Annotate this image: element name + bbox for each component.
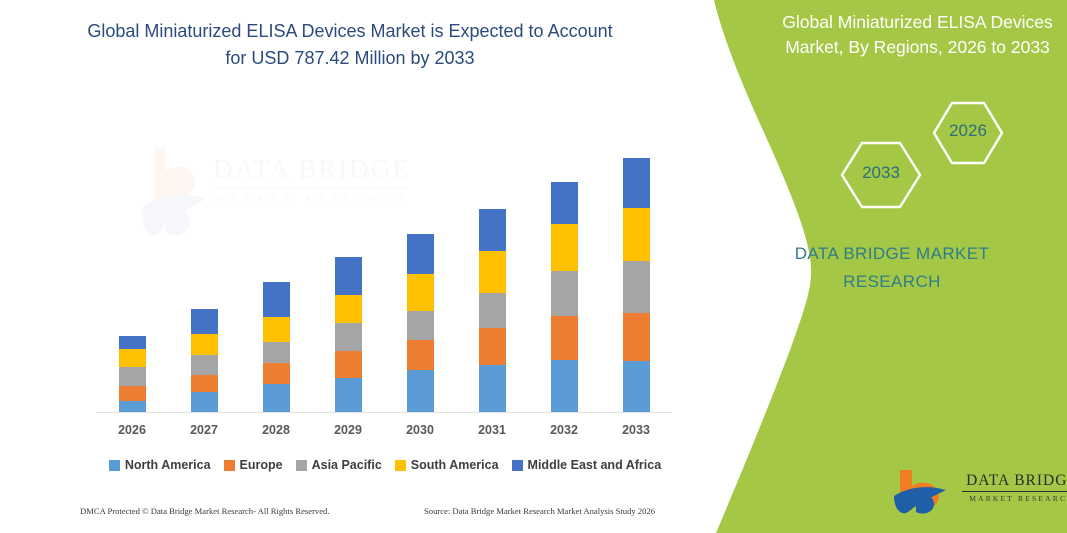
bar-2030 — [407, 234, 434, 413]
segment-2031-asia-pacific — [479, 293, 506, 328]
chart-panel: Global Miniaturized ELISA Devices Market… — [0, 0, 712, 533]
segment-2029-south-america — [335, 295, 362, 323]
segment-2032-asia-pacific — [551, 271, 578, 316]
footer-source: Source: Data Bridge Market Research Mark… — [424, 506, 655, 516]
x-label-2029: 2029 — [318, 423, 378, 437]
segment-2028-europe — [263, 363, 290, 383]
bar-2031 — [479, 209, 506, 413]
segment-2033-asia-pacific — [623, 261, 650, 313]
segment-2031-north-america — [479, 365, 506, 413]
segment-2027-north-america — [191, 392, 218, 413]
segment-2031-middle-east-and-africa — [479, 209, 506, 251]
brand-line-2: RESEARCH — [742, 268, 1042, 296]
footer-copyright: DMCA Protected © Data Bridge Market Rese… — [80, 506, 330, 516]
x-label-2028: 2028 — [246, 423, 306, 437]
data-bridge-logo-mark — [890, 466, 960, 522]
segment-2027-europe — [191, 375, 218, 392]
legend-label: South America — [411, 458, 499, 472]
x-label-2026: 2026 — [102, 423, 162, 437]
legend-label: Middle East and Africa — [528, 458, 662, 472]
segment-2030-middle-east-and-africa — [407, 234, 434, 274]
segment-2031-south-america — [479, 251, 506, 293]
legend-item-asia-pacific[interactable]: Asia Pacific — [296, 458, 382, 472]
chart-title: Global Miniaturized ELISA Devices Market… — [80, 18, 620, 72]
legend-swatch-icon — [395, 460, 406, 471]
segment-2032-europe — [551, 316, 578, 361]
logo-line-1: DATA BRIDGE — [962, 472, 1067, 489]
bar-2032 — [551, 182, 578, 413]
logo-line-2: MARKET RESEARCH — [962, 494, 1067, 504]
segment-2028-south-america — [263, 317, 290, 342]
logo-wordmark: DATA BRIDGE MARKET RESEARCH — [962, 472, 1067, 504]
segment-2030-europe — [407, 340, 434, 370]
segment-2027-south-america — [191, 334, 218, 354]
logo-divider — [962, 491, 1067, 492]
x-label-2032: 2032 — [534, 423, 594, 437]
chart-footer: DMCA Protected © Data Bridge Market Rese… — [80, 506, 680, 522]
segment-2032-north-america — [551, 360, 578, 413]
segment-2028-asia-pacific — [263, 342, 290, 363]
legend-swatch-icon — [512, 460, 523, 471]
segment-2030-asia-pacific — [407, 311, 434, 340]
segment-2033-north-america — [623, 361, 650, 413]
segment-2027-asia-pacific — [191, 355, 218, 375]
legend-swatch-icon — [109, 460, 120, 471]
hexagon-label-2033: 2033 — [842, 163, 920, 183]
segment-2031-europe — [479, 328, 506, 365]
bar-2027 — [191, 309, 218, 413]
segment-2028-north-america — [263, 384, 290, 413]
x-label-2033: 2033 — [606, 423, 666, 437]
bar-2033 — [623, 158, 650, 413]
side-panel-content: Global Miniaturized ELISA Devices Market… — [712, 0, 1067, 533]
x-label-2027: 2027 — [174, 423, 234, 437]
segment-2030-south-america — [407, 274, 434, 311]
x-axis-labels: 20262027202820292030203120322033 — [96, 423, 672, 443]
bar-2029 — [335, 257, 362, 413]
bar-2028 — [263, 282, 290, 413]
x-axis-line — [96, 412, 672, 413]
x-label-2031: 2031 — [462, 423, 522, 437]
data-bridge-logo: DATA BRIDGE MARKET RESEARCH — [890, 466, 1055, 524]
infographic-root: Global Miniaturized ELISA Devices Market… — [0, 0, 1067, 533]
segment-2026-asia-pacific — [119, 367, 146, 386]
legend-label: Asia Pacific — [312, 458, 382, 472]
x-label-2030: 2030 — [390, 423, 450, 437]
hexagon-group: 2026 2033 — [822, 95, 1022, 210]
side-panel-title: Global Miniaturized ELISA Devices Market… — [770, 10, 1065, 60]
legend-label: Europe — [240, 458, 283, 472]
bar-plot — [96, 140, 672, 413]
legend-item-europe[interactable]: Europe — [224, 458, 283, 472]
segment-2029-north-america — [335, 378, 362, 413]
bar-2026 — [119, 336, 146, 413]
segment-2029-middle-east-and-africa — [335, 257, 362, 295]
segment-2026-south-america — [119, 349, 146, 368]
chart-legend: North AmericaEuropeAsia PacificSouth Ame… — [96, 455, 674, 475]
side-panel-brand: DATA BRIDGE MARKET RESEARCH — [742, 240, 1042, 296]
legend-label: North America — [125, 458, 211, 472]
legend-item-north-america[interactable]: North America — [109, 458, 211, 472]
brand-line-1: DATA BRIDGE MARKET — [742, 240, 1042, 268]
segment-2029-asia-pacific — [335, 323, 362, 350]
legend-swatch-icon — [296, 460, 307, 471]
segment-2027-middle-east-and-africa — [191, 309, 218, 334]
legend-swatch-icon — [224, 460, 235, 471]
legend-item-middle-east-and-africa[interactable]: Middle East and Africa — [512, 458, 662, 472]
segment-2029-europe — [335, 351, 362, 378]
segment-2026-europe — [119, 386, 146, 402]
segment-2030-north-america — [407, 370, 434, 413]
legend-item-south-america[interactable]: South America — [395, 458, 499, 472]
segment-2033-middle-east-and-africa — [623, 158, 650, 209]
hexagon-label-2026: 2026 — [934, 121, 1002, 141]
segment-2028-middle-east-and-africa — [263, 282, 290, 316]
segment-2033-south-america — [623, 208, 650, 261]
segment-2026-middle-east-and-africa — [119, 336, 146, 349]
segment-2033-europe — [623, 313, 650, 362]
segment-2032-south-america — [551, 224, 578, 271]
segment-2032-middle-east-and-africa — [551, 182, 578, 224]
